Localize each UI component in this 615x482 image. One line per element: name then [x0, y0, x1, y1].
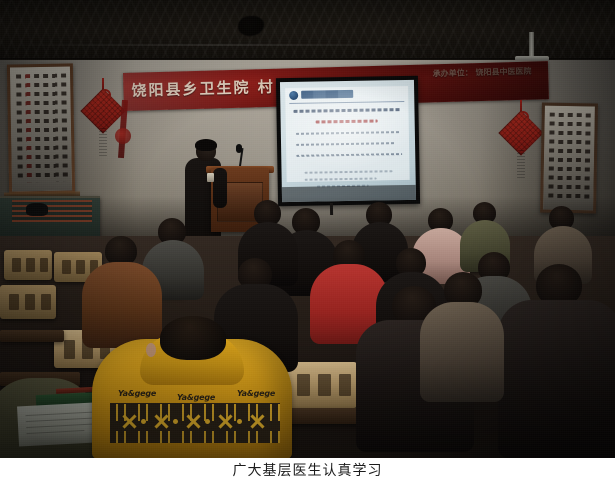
hoodie-text-mid: Ya&gege	[177, 393, 215, 402]
audience-torso	[82, 262, 162, 348]
audience-torso	[498, 300, 615, 458]
ceiling-seam	[0, 44, 430, 46]
microphone-icon	[236, 144, 242, 153]
projection-screen	[276, 76, 420, 206]
chair	[4, 250, 52, 280]
audience-ear	[146, 343, 156, 357]
speaker-arm	[213, 168, 227, 208]
banner-knot	[115, 128, 131, 144]
ceiling	[0, 0, 615, 62]
chair	[0, 285, 56, 319]
water-cup	[207, 173, 214, 182]
hoodie-text-right: Ya&gege	[237, 389, 275, 398]
audience-head	[160, 316, 226, 360]
hanging-object	[26, 203, 48, 216]
left-calligraphy-frame	[7, 63, 75, 194]
hoodie-pattern-band	[110, 403, 280, 443]
photo-figure: 饶阳县乡卫生院 村 承办单位： 饶阳县中医医院	[0, 0, 615, 482]
figure-caption: 广大基层医生认真学习	[0, 458, 615, 482]
speaker-hair	[195, 139, 217, 151]
hoodie-text-left: Ya&gege	[118, 389, 156, 398]
caption-text: 广大基层医生认真学习	[233, 460, 383, 480]
desk	[0, 330, 64, 342]
photograph: 饶阳县乡卫生院 村 承办单位： 饶阳县中医医院	[0, 0, 615, 458]
projector-mount-rod	[529, 32, 534, 58]
wall-rack	[12, 200, 92, 222]
chair	[285, 362, 357, 408]
audience-torso	[420, 302, 504, 402]
